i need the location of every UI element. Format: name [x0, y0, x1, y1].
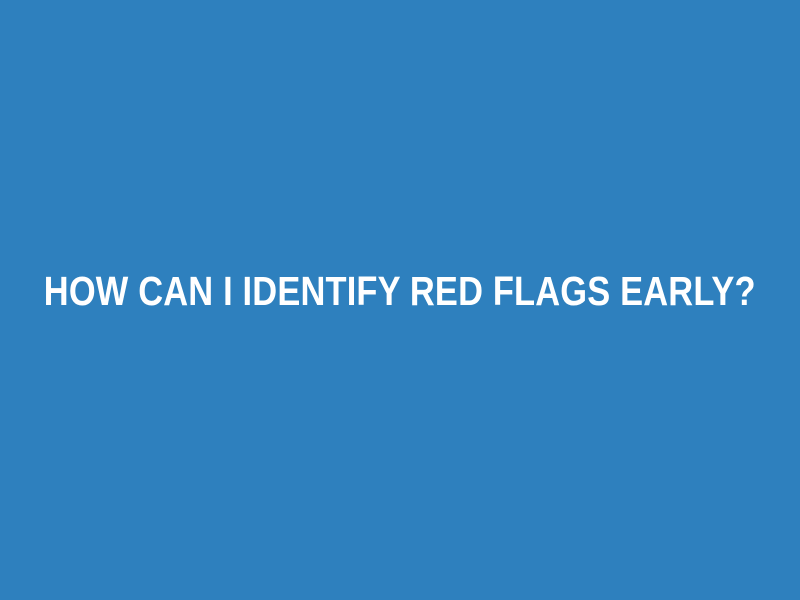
banner-content: How can I identify red flags early? [0, 269, 800, 314]
page-title: How can I identify red flags early? [27, 269, 773, 314]
featured-image-banner: How can I identify red flags early? [0, 0, 800, 600]
